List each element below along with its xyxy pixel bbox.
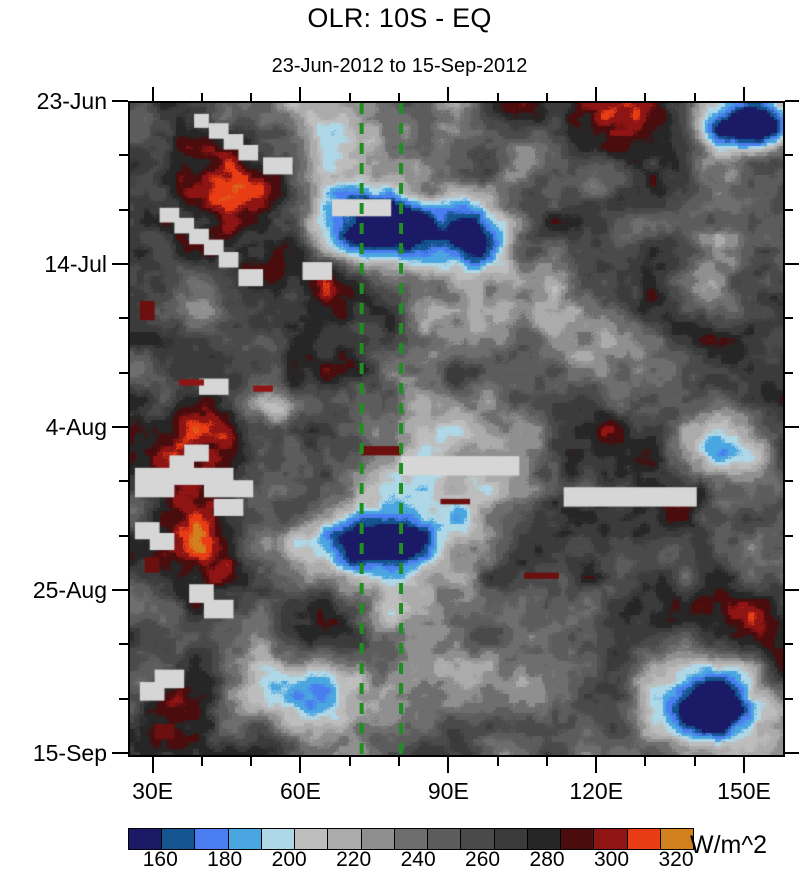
colorbar-swatch <box>195 829 228 849</box>
axis-tick <box>447 757 449 773</box>
colorbar-tick-label: 260 <box>465 849 500 870</box>
axis-tick <box>349 93 351 101</box>
x-axis-label: 30E <box>132 780 173 803</box>
axis-tick <box>119 209 128 211</box>
olr-hovmoller-figure: OLR: 10S - EQ 23-Jun-2012 to 15-Sep-2012… <box>0 0 799 869</box>
axis-tick <box>785 698 793 700</box>
axis-tick <box>119 317 128 319</box>
axis-tick <box>119 643 128 645</box>
axis-tick <box>119 372 128 374</box>
axis-tick <box>201 757 203 766</box>
colorbar-swatch <box>528 829 561 849</box>
axis-tick <box>112 100 128 102</box>
axis-tick <box>785 154 793 156</box>
colorbar-swatch <box>594 829 627 849</box>
colorbar <box>128 828 694 850</box>
axis-tick <box>785 317 793 319</box>
axis-tick <box>785 752 799 754</box>
axis-tick <box>595 757 597 773</box>
axis-tick <box>546 93 548 101</box>
figure-subtitle: 23-Jun-2012 to 15-Sep-2012 <box>0 54 799 78</box>
colorbar-tick-label: 300 <box>594 849 629 870</box>
axis-tick <box>497 93 499 101</box>
axis-tick <box>112 426 128 428</box>
axis-tick <box>119 480 128 482</box>
axis-tick <box>250 757 252 766</box>
axis-tick <box>785 209 793 211</box>
colorbar-swatch <box>561 829 594 849</box>
axis-tick <box>785 426 799 428</box>
colorbar-swatch <box>229 829 262 849</box>
axis-tick <box>152 87 154 101</box>
axis-tick <box>119 154 128 156</box>
colorbar-tick-label: 240 <box>401 849 436 870</box>
colorbar-tick-label: 160 <box>143 849 178 870</box>
axis-tick <box>398 757 400 766</box>
colorbar-swatch <box>162 829 195 849</box>
axis-tick <box>119 535 128 537</box>
colorbar-swatch <box>461 829 494 849</box>
axis-tick <box>785 589 799 591</box>
axis-tick <box>299 757 301 773</box>
plot-area <box>128 101 785 757</box>
axis-tick <box>250 93 252 101</box>
colorbar-swatch <box>295 829 328 849</box>
colorbar-swatch <box>362 829 395 849</box>
axis-tick <box>497 757 499 766</box>
colorbar-unit-label: W/m^2 <box>690 832 767 858</box>
x-axis-label: 150E <box>717 780 771 803</box>
x-axis-label: 120E <box>569 780 623 803</box>
axis-tick <box>201 93 203 101</box>
y-axis-label: 4-Aug <box>46 416 107 439</box>
axis-tick <box>152 757 154 773</box>
axis-tick <box>743 87 745 101</box>
axis-tick <box>644 757 646 766</box>
colorbar-swatch <box>262 829 295 849</box>
figure-title: OLR: 10S - EQ <box>0 2 799 34</box>
axis-tick <box>546 757 548 766</box>
axis-tick <box>644 93 646 101</box>
axis-tick <box>743 757 745 773</box>
axis-tick <box>785 535 793 537</box>
meridian-lines-overlay <box>130 103 783 755</box>
axis-tick <box>349 757 351 766</box>
x-axis-label: 90E <box>428 780 469 803</box>
axis-tick <box>299 87 301 101</box>
colorbar-tick-label: 320 <box>658 849 693 870</box>
colorbar-swatch <box>328 829 361 849</box>
axis-tick <box>112 263 128 265</box>
colorbar-tick-label: 180 <box>207 849 242 870</box>
axis-tick <box>119 698 128 700</box>
axis-tick <box>595 87 597 101</box>
axis-tick <box>785 100 799 102</box>
y-axis-label: 25-Aug <box>33 579 107 602</box>
colorbar-tick-label: 200 <box>272 849 307 870</box>
y-axis-label: 15-Sep <box>33 742 107 765</box>
axis-tick <box>398 93 400 101</box>
colorbar-tick-label: 220 <box>336 849 371 870</box>
colorbar-swatch <box>661 829 693 849</box>
colorbar-swatch <box>428 829 461 849</box>
axis-tick <box>694 93 696 101</box>
colorbar-swatch <box>395 829 428 849</box>
y-axis-label: 23-Jun <box>37 90 107 113</box>
x-axis-label: 60E <box>280 780 321 803</box>
axis-tick <box>785 480 793 482</box>
colorbar-tick-label: 280 <box>530 849 565 870</box>
colorbar-swatch <box>495 829 528 849</box>
axis-tick <box>112 752 128 754</box>
axis-tick <box>785 263 799 265</box>
axis-tick <box>694 757 696 766</box>
colorbar-swatch <box>129 829 162 849</box>
axis-tick <box>785 643 793 645</box>
axis-tick <box>447 87 449 101</box>
axis-tick <box>112 589 128 591</box>
axis-tick <box>785 372 793 374</box>
y-axis-label: 14-Jul <box>44 253 107 276</box>
colorbar-swatch <box>628 829 661 849</box>
